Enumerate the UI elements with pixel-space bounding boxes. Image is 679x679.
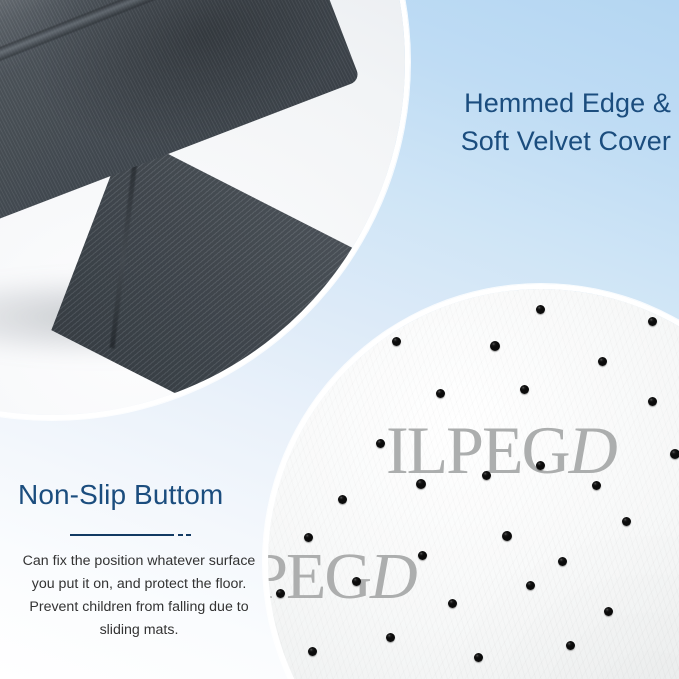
feature-body: Can fix the position whatever surface yo… (8, 550, 270, 642)
antislip-dot (566, 641, 575, 650)
product-feature-graphic: ILPEGD ILPEGD ILPEGD (0, 0, 679, 679)
feature-title: Non-Slip Buttom (8, 478, 270, 512)
product-photo-nonslip-backing: ILPEGD ILPEGD ILPEGD (263, 284, 679, 679)
antislip-dot (276, 589, 285, 598)
headline-line-2: Soft Velvet Cover (371, 122, 671, 160)
feature-body-line-3: Prevent children from falling due to (20, 596, 258, 619)
antislip-dot (338, 495, 347, 504)
antislip-dot (304, 533, 313, 542)
antislip-dot (598, 357, 607, 366)
antislip-dot (474, 653, 483, 662)
antislip-dot (352, 577, 361, 586)
antislip-dot (376, 439, 385, 448)
antislip-dot (448, 599, 457, 608)
antislip-dot (482, 471, 491, 480)
antislip-dot (526, 581, 535, 590)
title-divider (8, 524, 270, 546)
divider-dash-1 (178, 534, 183, 536)
antislip-dot (274, 417, 283, 426)
feature-block-nonslip: Non-Slip Buttom Can fix the position wha… (8, 478, 270, 642)
brand-watermark: ILPEGD (263, 539, 412, 615)
antislip-dot (386, 633, 395, 642)
feature-body-line-1: Can fix the position whatever surface (20, 550, 258, 573)
nonslip-backing-surface: ILPEGD ILPEGD ILPEGD (268, 289, 679, 679)
feature-body-line-4: sliding mats. (20, 619, 258, 642)
antislip-dot (520, 385, 529, 394)
antislip-dot (502, 531, 512, 541)
antislip-dot (592, 481, 601, 490)
antislip-dot (648, 397, 657, 406)
divider-dash-2 (186, 534, 191, 536)
antislip-dot (648, 317, 657, 326)
headline-hemmed-edge: Hemmed Edge & Soft Velvet Cover (371, 84, 671, 161)
antislip-dot (490, 341, 500, 351)
antislip-dot (392, 337, 401, 346)
brand-watermark: ILPEGD (286, 674, 512, 679)
antislip-dot (308, 647, 317, 656)
feature-body-line-2: you put it on, and protect the floor. (20, 573, 258, 596)
antislip-dot (436, 389, 445, 398)
antislip-dot (536, 305, 545, 314)
antislip-dot (304, 381, 313, 390)
antislip-dot (536, 461, 545, 470)
antislip-dot (604, 607, 613, 616)
headline-line-1: Hemmed Edge & (371, 84, 671, 122)
antislip-dot (416, 479, 426, 489)
divider-line (70, 534, 174, 536)
antislip-dot (558, 557, 567, 566)
antislip-dot (622, 517, 631, 526)
antislip-dot (418, 551, 427, 560)
antislip-dot (670, 449, 679, 459)
